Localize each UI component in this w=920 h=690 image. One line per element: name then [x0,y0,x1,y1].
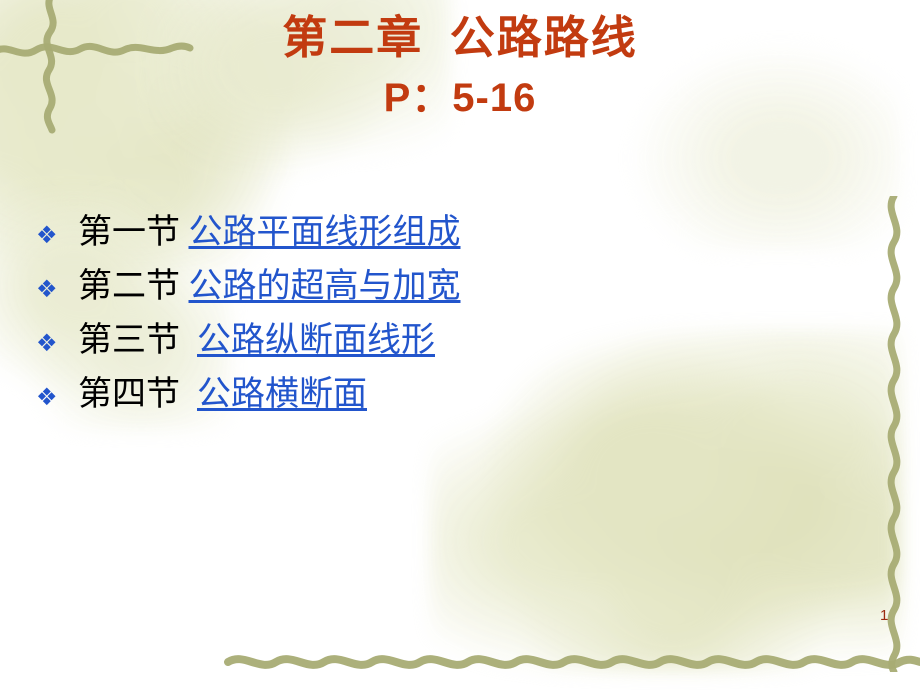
page-title: 第二章 公路路线 [0,8,920,68]
section-number-2: 第二节 [78,260,180,314]
diamond-bullet-icon: ❖ [36,262,78,316]
diamond-bullet-icon: ❖ [36,370,78,424]
slide-canvas: 第二章 公路路线 P：5-16 ❖ 第一节 公路平面线形组成 ❖ 第二节 公路的… [0,0,920,690]
section-gap-4 [180,368,197,422]
section-gap-3 [180,314,197,368]
page-subtitle: P：5-16 [0,70,920,126]
section-number-1: 第一节 [78,206,180,260]
list-item[interactable]: ❖ 第三节 公路纵断面线形 [36,314,856,368]
section-link-3[interactable]: 公路纵断面线形 [197,314,435,368]
title-block: 第二章 公路路线 P：5-16 [0,8,920,126]
vine-vertical-border-icon [876,196,912,672]
list-item[interactable]: ❖ 第二节 公路的超高与加宽 [36,260,856,314]
section-number-4: 第四节 [78,368,180,422]
section-number-3: 第三节 [78,314,180,368]
section-link-2[interactable]: 公路的超高与加宽 [189,260,461,314]
diamond-bullet-icon: ❖ [36,208,78,262]
page-number: 1 [880,607,888,624]
list-item[interactable]: ❖ 第一节 公路平面线形组成 [36,206,856,260]
list-item[interactable]: ❖ 第四节 公路横断面 [36,368,856,422]
section-list: ❖ 第一节 公路平面线形组成 ❖ 第二节 公路的超高与加宽 ❖ 第三节 公路纵断… [36,206,856,422]
diamond-bullet-icon: ❖ [36,316,78,370]
vine-horizontal-border-icon [222,642,920,682]
section-link-1[interactable]: 公路平面线形组成 [189,206,461,260]
section-gap-2 [180,260,189,314]
section-gap-1 [180,206,189,260]
section-link-4[interactable]: 公路横断面 [197,368,367,422]
